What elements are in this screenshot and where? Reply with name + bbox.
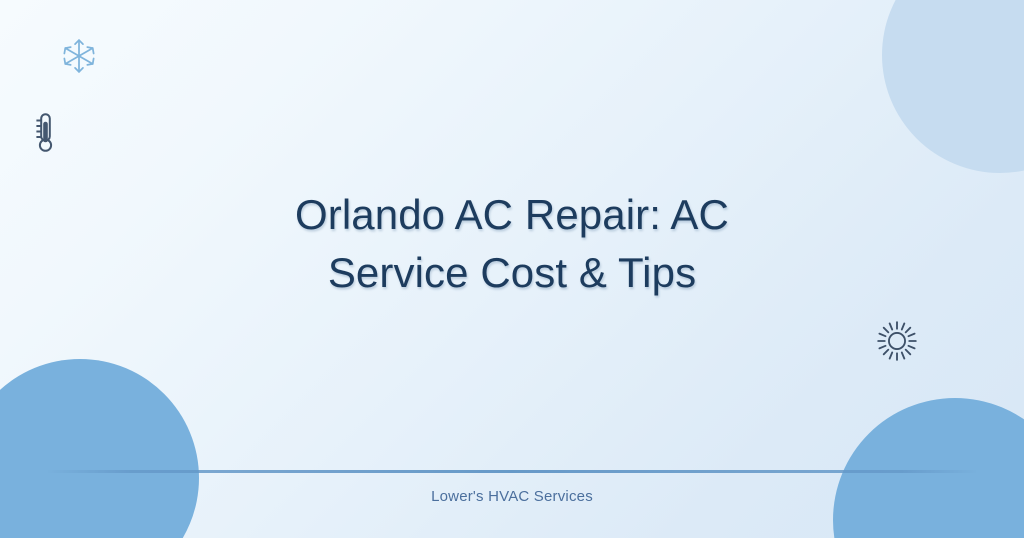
divider [48,470,976,473]
page-title: Orlando AC Repair: AC Service Cost & Tip… [112,186,912,302]
slide-content: Orlando AC Repair: AC Service Cost & Tip… [0,0,1024,538]
subtitle-company-name: Lower's HVAC Services [112,488,912,505]
title-slide: Orlando AC Repair: AC Service Cost & Tip… [0,0,1024,538]
